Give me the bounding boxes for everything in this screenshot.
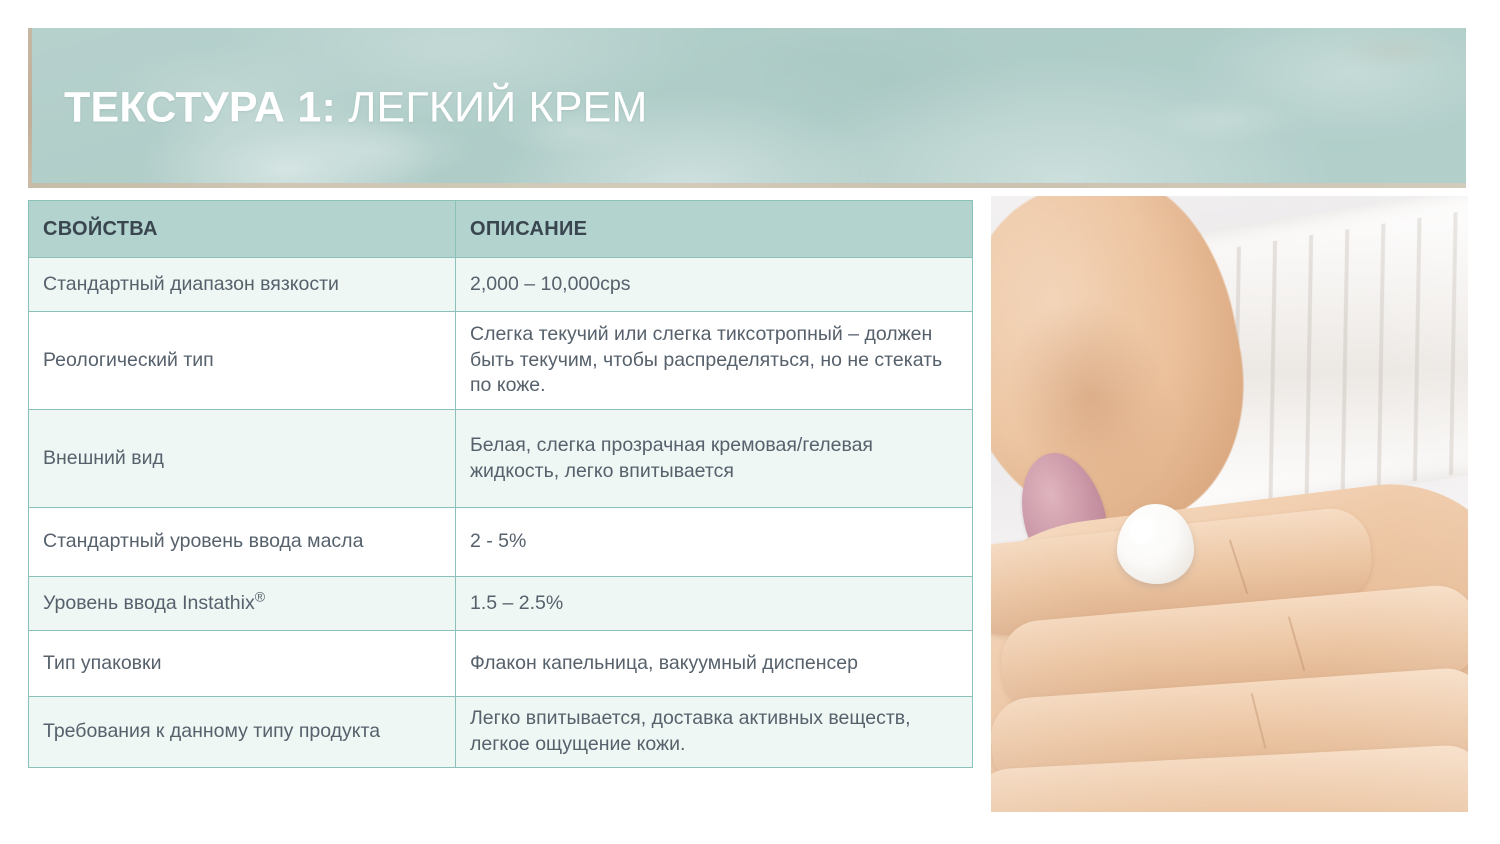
slide-banner: ТЕКСТУРА 1: ЛЕГКИЙ КРЕМ (28, 28, 1466, 188)
cell-description: Легко впитывается, доставка активных вещ… (456, 697, 973, 768)
cell-description: Флакон капельница, вакуумный диспенсер (456, 631, 973, 697)
cell-property: Стандартный уровень ввода масла (29, 508, 456, 577)
table-row: Реологический тип Слегка текучий или сле… (29, 312, 973, 410)
cell-property: Требования к данному типу продукта (29, 697, 456, 768)
table-row: Стандартный диапазон вязкости 2,000 – 10… (29, 258, 973, 312)
cell-property: Уровень ввода Instathix® (29, 577, 456, 631)
table-header-row: СВОЙСТВА ОПИСАНИЕ (29, 201, 973, 258)
table-row: Уровень ввода Instathix® 1.5 – 2.5% (29, 577, 973, 631)
cell-description: 2,000 – 10,000cps (456, 258, 973, 312)
cream-droplet (1117, 504, 1193, 584)
cell-description: Слегка текучий или слегка тиксотропный –… (456, 312, 973, 410)
cell-property: Реологический тип (29, 312, 456, 410)
cell-description: 2 - 5% (456, 508, 973, 577)
product-photo (991, 196, 1468, 812)
banner-left-accent-strip (28, 28, 32, 188)
table-body: Стандартный диапазон вязкости 2,000 – 10… (29, 258, 973, 768)
page-title-strong: ТЕКСТУРА 1: (64, 83, 336, 131)
table-row: Стандартный уровень ввода масла 2 - 5% (29, 508, 973, 577)
table-header: СВОЙСТВА ОПИСАНИЕ (29, 201, 973, 258)
banner-bottom-accent-strip (28, 183, 1466, 188)
table-row: Тип упаковки Флакон капельница, вакуумны… (29, 631, 973, 697)
cell-description: Белая, слегка прозрачная кремовая/гелева… (456, 410, 973, 508)
table-row: Требования к данному типу продукта Легко… (29, 697, 973, 768)
cell-property: Внешний вид (29, 410, 456, 508)
page-title: ТЕКСТУРА 1: ЛЕГКИЙ КРЕМ (64, 85, 648, 130)
page-title-light: ЛЕГКИЙ КРЕМ (336, 83, 648, 131)
cell-description: 1.5 – 2.5% (456, 577, 973, 631)
properties-table: СВОЙСТВА ОПИСАНИЕ Стандартный диапазон в… (28, 200, 973, 768)
table-row: Внешний вид Белая, слегка прозрачная кре… (29, 410, 973, 508)
cell-property: Тип упаковки (29, 631, 456, 697)
column-header-description: ОПИСАНИЕ (456, 201, 973, 258)
slide: ТЕКСТУРА 1: ЛЕГКИЙ КРЕМ СВОЙСТВА ОПИСАНИ… (0, 0, 1500, 844)
bottle-ridges (1220, 207, 1468, 504)
column-header-properties: СВОЙСТВА (29, 201, 456, 258)
cell-property: Стандартный диапазон вязкости (29, 258, 456, 312)
